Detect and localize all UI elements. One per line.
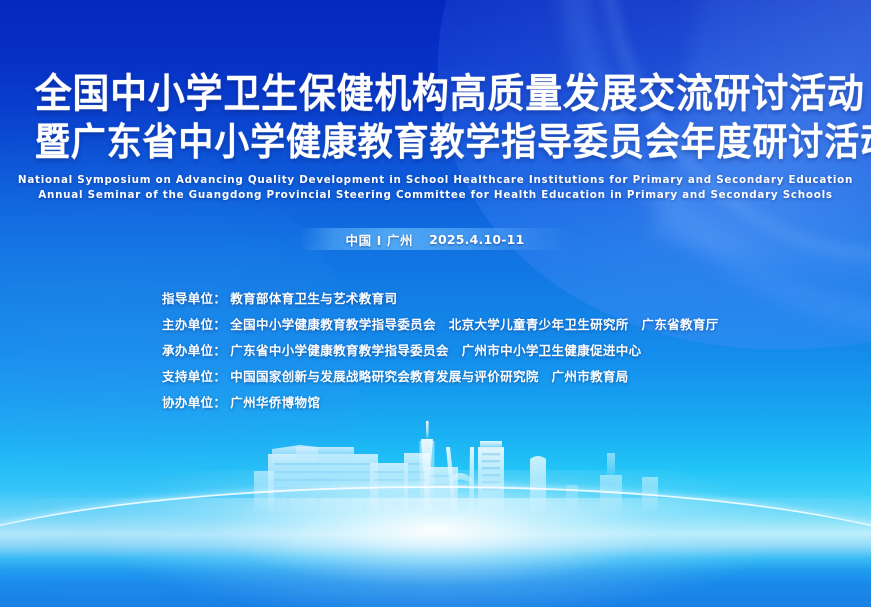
- organizer-label: 支持单位：: [162, 366, 226, 385]
- school-building: [254, 445, 458, 512]
- organizer-row: 协办单位： 广州华侨博物馆: [162, 392, 719, 418]
- subtitle-english-line-2: Annual Seminar of the Guangdong Provinci…: [7, 188, 865, 203]
- arch-bridge: [446, 447, 474, 512]
- organizer-label: 承办单位：: [162, 340, 226, 359]
- poster-subtitle-english: National Symposium on Advancing Quality …: [7, 173, 865, 203]
- office-tower: [478, 441, 504, 512]
- poster-title-line-1: 全国中小学卫生保健机构高质量发展交流研讨活动: [35, 74, 836, 114]
- organizer-value: 全国中小学健康教育教学指导委员会 北京大学儿童青少年卫生研究所 广东省教育厅: [230, 314, 718, 333]
- organizer-row: 支持单位： 中国国家创新与发展战略研究会教育发展与评价研究院 广州市教育局: [162, 366, 719, 392]
- organizer-row: 指导单位： 教育部体育卫生与艺术教育司: [162, 288, 719, 314]
- organizer-row: 主办单位： 全国中小学健康教育教学指导委员会 北京大学儿童青少年卫生研究所 广东…: [162, 314, 719, 340]
- city-skyline-illustration: [0, 419, 871, 529]
- organizer-label: 指导单位：: [162, 288, 226, 307]
- badge-date-text: 2025.4.10-11: [429, 232, 524, 247]
- badge-text-group: 中国 I 广州 2025.4.10-11: [300, 228, 570, 250]
- organizer-value: 广东省中小学健康教育教学指导委员会 广州市中小学卫生健康促进中心: [230, 340, 641, 359]
- canton-tower: [420, 421, 435, 512]
- high-rise-cluster: [566, 453, 658, 512]
- conference-poster: 全国中小学卫生保健机构高质量发展交流研讨活动 暨广东省中小学健康教育教学指导委员…: [0, 0, 871, 607]
- organizer-label: 协办单位：: [162, 392, 226, 411]
- headline-block: 全国中小学卫生保健机构高质量发展交流研讨活动 暨广东省中小学健康教育教学指导委员…: [0, 74, 871, 203]
- event-location-date-badge: 中国 I 广州 2025.4.10-11: [300, 228, 570, 250]
- horizon-haze: [0, 498, 871, 538]
- rounded-tower: [530, 456, 546, 512]
- organizer-value: 教育部体育卫生与艺术教育司: [230, 288, 397, 307]
- organizer-value: 中国国家创新与发展战略研究会教育发展与评价研究院 广州市教育局: [230, 366, 628, 385]
- badge-location-text: 中国 I 广州: [346, 230, 414, 249]
- horizon-arc-line: [0, 486, 871, 607]
- organizer-value: 广州华侨博物馆: [230, 392, 320, 411]
- poster-title-line-2: 暨广东省中小学健康教育教学指导委员会年度研讨活动: [35, 123, 836, 161]
- organizer-label: 主办单位：: [162, 314, 226, 333]
- subtitle-english-line-1: National Symposium on Advancing Quality …: [7, 173, 865, 188]
- organizer-row: 承办单位： 广东省中小学健康教育教学指导委员会 广州市中小学卫生健康促进中心: [162, 340, 719, 366]
- ground-light-glow: [86, 470, 786, 607]
- organizer-list: 指导单位： 教育部体育卫生与艺术教育司 主办单位： 全国中小学健康教育教学指导委…: [162, 288, 719, 418]
